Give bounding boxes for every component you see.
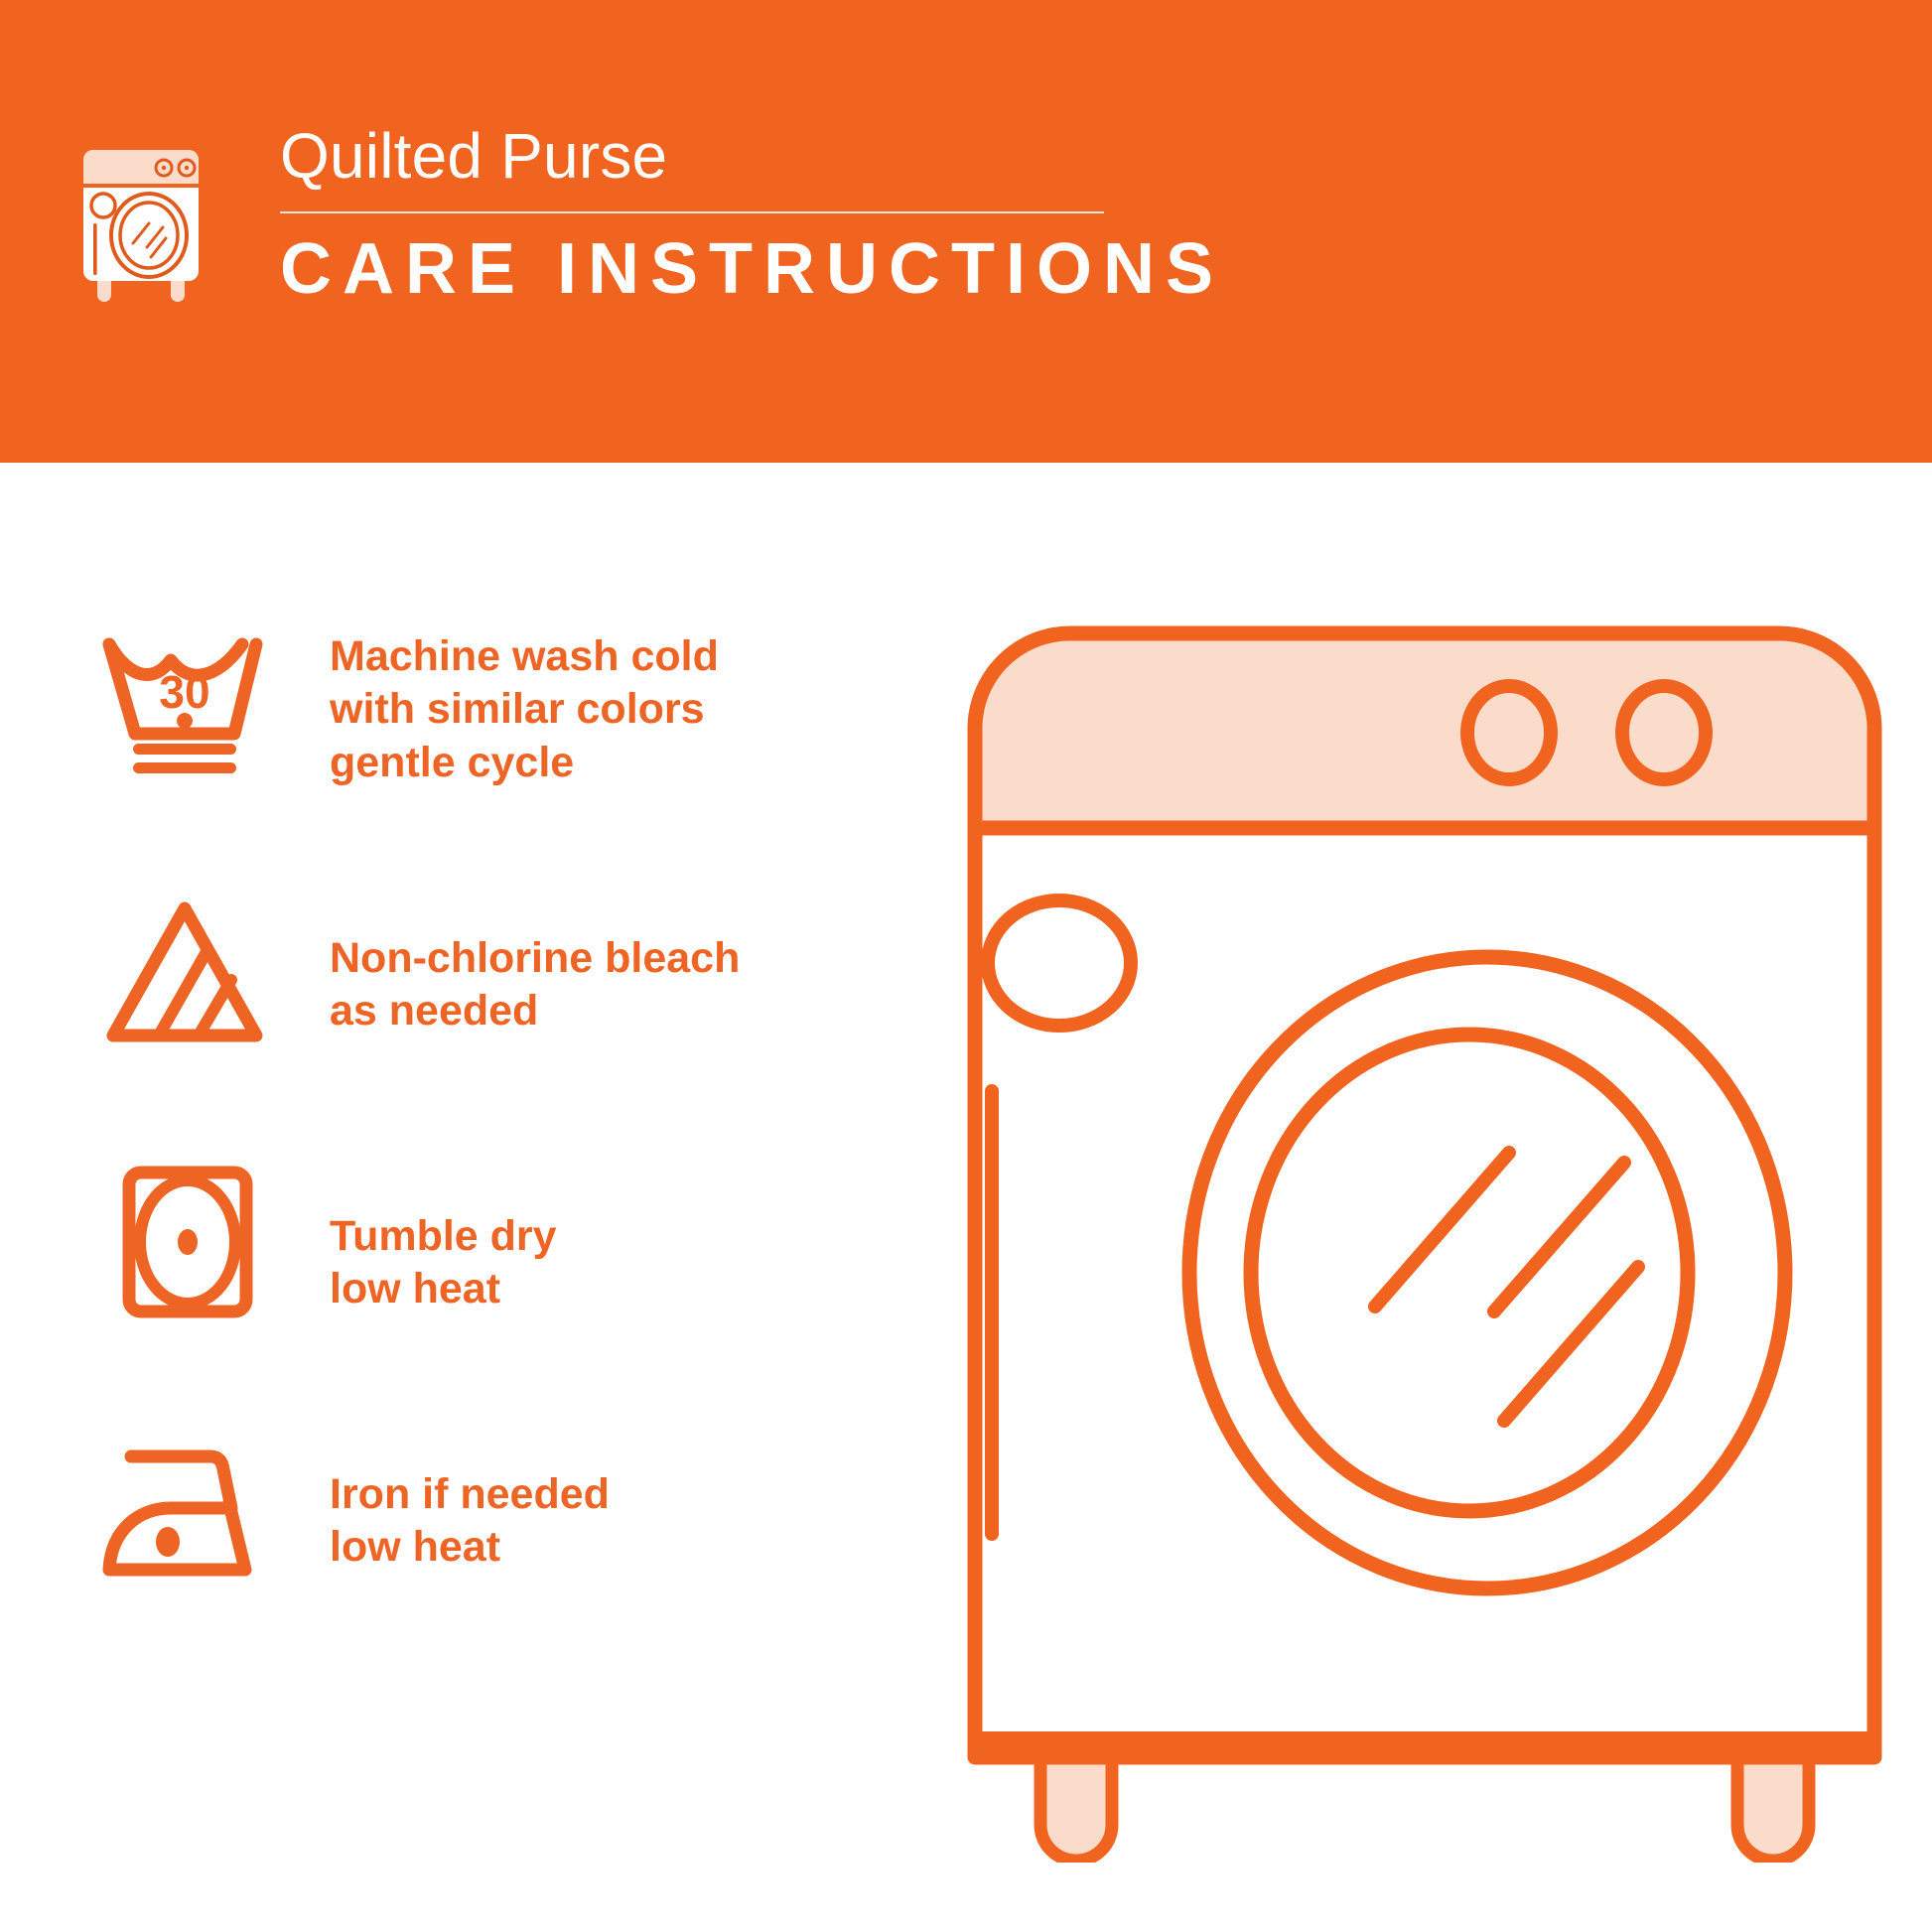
list-item-label: Non-chlorine bleach as needed	[330, 885, 740, 1038]
care-instruction-list: 30 Machine wash cold with similar colors…	[85, 617, 890, 1689]
care-line: Machine wash cold	[330, 630, 719, 683]
title-divider	[280, 211, 1104, 213]
page-title: CARE INSTRUCTIONS	[280, 233, 1224, 305]
leg-left	[1040, 1753, 1112, 1861]
list-item: 30 Machine wash cold with similar colors…	[85, 617, 890, 885]
header-banner: Quilted Purse CARE INSTRUCTIONS	[0, 0, 1932, 463]
body-area: 30 Machine wash cold with similar colors…	[0, 463, 1932, 1932]
washing-machine-illustration	[953, 612, 1896, 1863]
wash-temp-label: 30	[159, 666, 209, 718]
washing-machine-icon	[69, 132, 218, 306]
care-line: as needed	[330, 985, 740, 1037]
header-titles: Quilted Purse CARE INSTRUCTIONS	[280, 124, 1224, 305]
tumble-dry-low-icon	[85, 1153, 284, 1321]
list-item: Non-chlorine bleach as needed	[85, 885, 890, 1153]
care-line: with similar colors	[330, 683, 719, 736]
wash-tub-30-icon: 30	[85, 617, 284, 785]
list-item-label: Tumble dry low heat	[330, 1153, 557, 1316]
list-item-label: Iron if needed low heat	[330, 1421, 610, 1575]
iron-low-heat-icon	[85, 1421, 284, 1589]
leg-right	[1737, 1753, 1809, 1861]
care-line: Non-chlorine bleach	[330, 932, 740, 985]
bleach-triangle-striped-icon	[85, 885, 284, 1053]
header-content: Quilted Purse CARE INSTRUCTIONS	[69, 124, 1224, 306]
care-line: gentle cycle	[330, 737, 719, 789]
care-line: low heat	[330, 1521, 610, 1574]
list-item: Iron if needed low heat	[85, 1421, 890, 1689]
list-item-label: Machine wash cold with similar colors ge…	[330, 617, 719, 789]
product-title: Quilted Purse	[280, 124, 1224, 188]
care-line: low heat	[330, 1263, 557, 1315]
care-line: Iron if needed	[330, 1468, 610, 1521]
list-item: Tumble dry low heat	[85, 1153, 890, 1421]
care-instructions-card: Quilted Purse CARE INSTRUCTIONS 30	[0, 0, 1932, 1932]
care-line: Tumble dry	[330, 1210, 557, 1263]
